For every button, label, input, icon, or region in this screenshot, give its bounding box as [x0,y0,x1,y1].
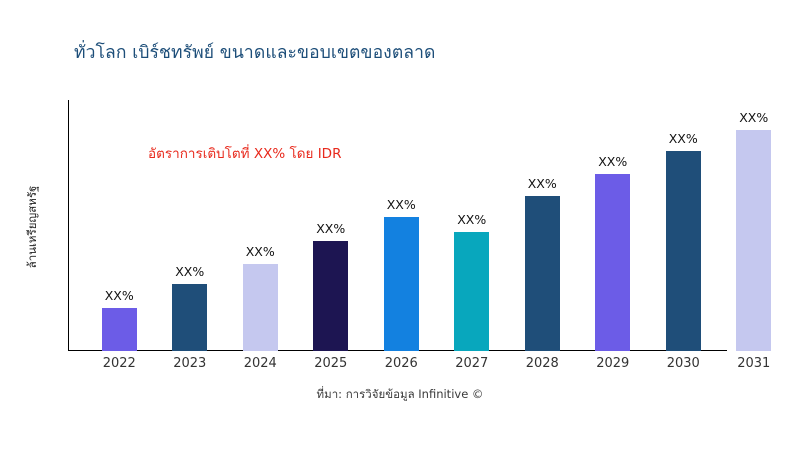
bar-2023 [172,284,207,351]
bar-2030 [666,151,701,351]
bar-value-label-2027: XX% [442,212,502,227]
bar-value-label-2026: XX% [371,197,431,212]
bar-2025 [313,241,348,351]
bar-2024 [243,264,278,352]
x-tick-label-2029: 2029 [578,356,648,371]
bar-value-label-2028: XX% [512,176,572,191]
x-tick-label-2030: 2030 [648,356,718,371]
bar-2026 [384,217,419,351]
x-tick-label-2022: 2022 [84,356,154,371]
bar-value-label-2031: XX% [724,110,784,125]
y-axis-line [68,100,69,351]
bar-value-label-2029: XX% [583,154,643,169]
x-tick-label-2024: 2024 [225,356,295,371]
bar-value-label-2030: XX% [653,131,713,146]
x-tick-label-2025: 2025 [296,356,366,371]
x-tick-label-2031: 2031 [719,356,789,371]
growth-rate-annotation: อัตราการเติบโตที่ XX% โดย IDR [148,142,341,164]
plot-area: XX%XX%XX%XX%XX%XX%XX%XX%XX%XX% 202220232… [0,0,800,450]
bar-2027 [454,232,489,351]
x-tick-label-2026: 2026 [366,356,436,371]
bar-2031 [736,130,771,351]
x-tick-label-2023: 2023 [155,356,225,371]
bar-2029 [595,174,630,351]
x-tick-label-2027: 2027 [437,356,507,371]
bar-value-label-2025: XX% [301,221,361,236]
bar-value-label-2023: XX% [160,264,220,279]
bar-2022 [102,308,137,351]
bar-2028 [525,196,560,351]
chart-container: ทั่วโลก เบิร์ชทรัพย์ ขนาดและขอบเขตของตลา… [0,0,800,450]
bar-value-label-2024: XX% [230,244,290,259]
source-note: ที่มา: การวิจัยข้อมูล Infinitive © [0,386,800,404]
bar-value-label-2022: XX% [89,288,149,303]
x-tick-label-2028: 2028 [507,356,577,371]
